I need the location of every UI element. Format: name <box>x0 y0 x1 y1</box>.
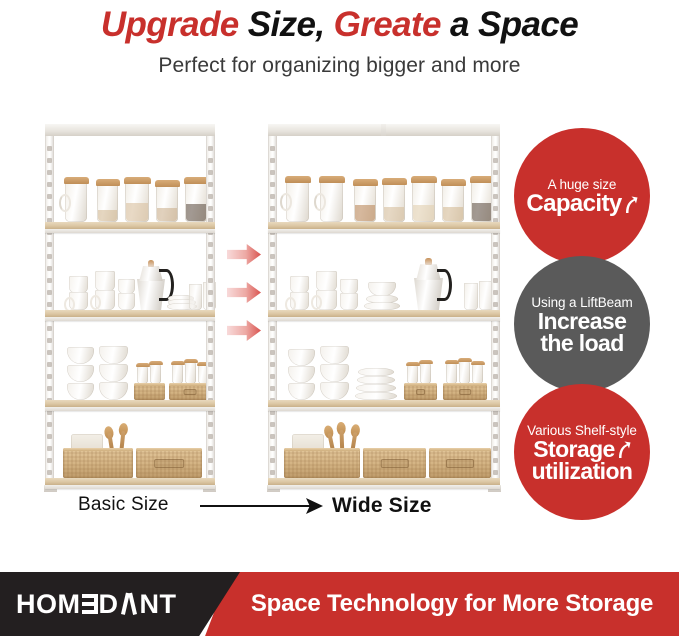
lift-beam-support <box>381 124 386 136</box>
page-subtitle: Perfect for organizing bigger and more <box>0 52 679 80</box>
small-jar <box>472 364 483 384</box>
small-jar <box>407 365 418 384</box>
glass-jar <box>383 183 405 222</box>
transfer-arrow-icon <box>227 244 261 265</box>
arrow-up-curved-icon <box>623 195 638 214</box>
stacked-plate <box>364 302 400 310</box>
shelf-level-1-contents <box>55 150 205 222</box>
glass-jar <box>412 181 435 222</box>
stacked-bowl <box>288 383 315 400</box>
page-title: Upgrade Size, Greate a Space <box>0 4 679 46</box>
footer-tagline: Space Technology for More Storage <box>232 572 672 636</box>
stacked-cup <box>340 279 358 294</box>
stacked-bowl <box>67 365 94 382</box>
large-woven-basket <box>63 448 133 478</box>
stacked-cup <box>95 290 115 310</box>
shelf-top-rail <box>45 124 215 136</box>
large-woven-basket <box>429 448 491 478</box>
stacked-bowl <box>99 346 128 364</box>
glass-jar <box>156 185 178 222</box>
infographic-canvas: Upgrade Size, Greate a Space Perfect for… <box>0 0 679 636</box>
shelf-board-3 <box>268 400 500 411</box>
stacked-bowl <box>320 364 349 382</box>
large-woven-basket <box>136 448 202 478</box>
shelf-board-4 <box>45 478 215 489</box>
footer-bar: HOM D NT Space Technology for More Stora… <box>0 572 679 636</box>
headline-word-greate: Greate <box>334 5 441 44</box>
headline-word-size: Size, <box>248 5 325 44</box>
shelf-board-2 <box>45 310 215 321</box>
wide-size-label: Wide Size <box>332 494 432 518</box>
large-woven-basket <box>284 448 360 478</box>
wide-size-shelving-unit <box>268 124 500 486</box>
badge-capacity: A huge size Capacity <box>514 128 650 264</box>
badge-increase-load-title-line2: the load <box>540 332 623 354</box>
brand-logo-prefix: HOM <box>16 589 81 620</box>
glass-jar <box>97 184 118 222</box>
stacked-plate <box>356 384 396 392</box>
basic-size-label: Basic Size <box>78 494 169 516</box>
brand-logo-suffix: NT <box>140 589 177 620</box>
glass-jar <box>471 181 493 222</box>
shelf-level-4-contents <box>278 416 490 478</box>
ceramic-mug <box>320 181 343 222</box>
stacked-plate <box>357 376 395 384</box>
stacked-plate <box>358 368 394 376</box>
wicker-basket <box>404 383 437 400</box>
stacked-bowl <box>368 282 396 296</box>
moka-pot <box>137 260 165 310</box>
brand-logo: HOM D NT <box>16 572 177 636</box>
arrow-up-curved-icon <box>616 440 631 459</box>
badge-storage-title-line1: Storage <box>533 438 630 460</box>
badge-increase-load: Using a LiftBeam Increase the load <box>514 256 650 392</box>
badge-capacity-title: Capacity <box>526 192 637 215</box>
shelf-board-1 <box>268 222 500 233</box>
glass-jar <box>185 182 207 222</box>
headline-word-a-space: a Space <box>450 5 578 44</box>
brand-logo-a-glyph <box>120 594 139 614</box>
glass-jar <box>125 182 149 222</box>
stacked-bowl <box>67 347 94 364</box>
basic-size-shelving-unit <box>45 124 215 486</box>
wicker-basket <box>169 383 211 400</box>
glass-jar <box>354 184 376 222</box>
stacked-cup <box>118 293 135 310</box>
stacked-cup <box>95 271 115 291</box>
shelf-board-3 <box>45 400 215 411</box>
transfer-arrow-icon <box>227 282 261 303</box>
wicker-basket <box>443 383 487 400</box>
shelf-level-3-contents <box>55 324 205 400</box>
drinking-glass <box>189 284 202 310</box>
moka-pot <box>414 258 443 310</box>
shelf-board-4 <box>268 478 500 489</box>
transfer-arrow-icon <box>227 320 261 341</box>
stacked-cup <box>316 290 337 310</box>
shelf-post-left <box>268 124 277 486</box>
drinking-glass <box>464 283 478 310</box>
stacked-bowl <box>320 346 349 364</box>
stacked-cup <box>290 276 309 293</box>
shelf-level-4-contents <box>55 416 205 478</box>
small-jar <box>150 364 161 384</box>
stacked-bowl <box>288 349 315 366</box>
large-woven-basket <box>363 448 426 478</box>
glass-jar <box>442 184 464 222</box>
stacked-bowl <box>99 382 128 400</box>
ceramic-mug <box>65 182 87 222</box>
stacked-bowl <box>99 364 128 382</box>
ceramic-mug <box>286 181 309 222</box>
badge-increase-load-title-line1: Increase <box>538 310 627 332</box>
shelf-level-3-contents <box>278 324 490 400</box>
stacked-bowl <box>67 383 94 400</box>
stacked-bowl <box>320 382 349 400</box>
shelf-post-right <box>491 124 500 486</box>
shelf-level-1-contents <box>278 150 490 222</box>
comparison-arrow-line <box>200 505 318 507</box>
shelf-board-1 <box>45 222 215 233</box>
size-comparison-row: Basic Size Wide Size <box>0 494 512 526</box>
stacked-cup <box>69 276 88 293</box>
shelf-level-2-contents <box>55 236 205 310</box>
badge-storage-utilization: Various Shelf-style Storage utilization <box>514 384 650 520</box>
small-jar <box>185 362 196 384</box>
shelf-level-2-contents <box>278 236 490 310</box>
badge-storage-title-line2: utilization <box>532 460 633 482</box>
stacked-cup <box>69 292 88 310</box>
small-jar <box>459 361 470 384</box>
stacked-cup <box>316 271 337 291</box>
brand-logo-mid: D <box>99 589 119 620</box>
stacked-plate <box>355 392 397 400</box>
shelf-board-2 <box>268 310 500 321</box>
small-jar <box>137 366 148 384</box>
shelf-post-left <box>45 124 54 486</box>
stacked-cup <box>340 293 358 310</box>
shelf-post-right <box>206 124 215 486</box>
small-jar <box>172 364 183 384</box>
small-jar <box>446 363 457 384</box>
brand-logo-e-glyph <box>82 594 98 614</box>
small-jar <box>420 363 431 384</box>
headline-word-upgrade: Upgrade <box>101 5 239 44</box>
stacked-cup <box>118 279 135 294</box>
stacked-cup <box>290 292 309 310</box>
stacked-bowl <box>288 366 315 383</box>
wicker-basket <box>134 383 165 400</box>
